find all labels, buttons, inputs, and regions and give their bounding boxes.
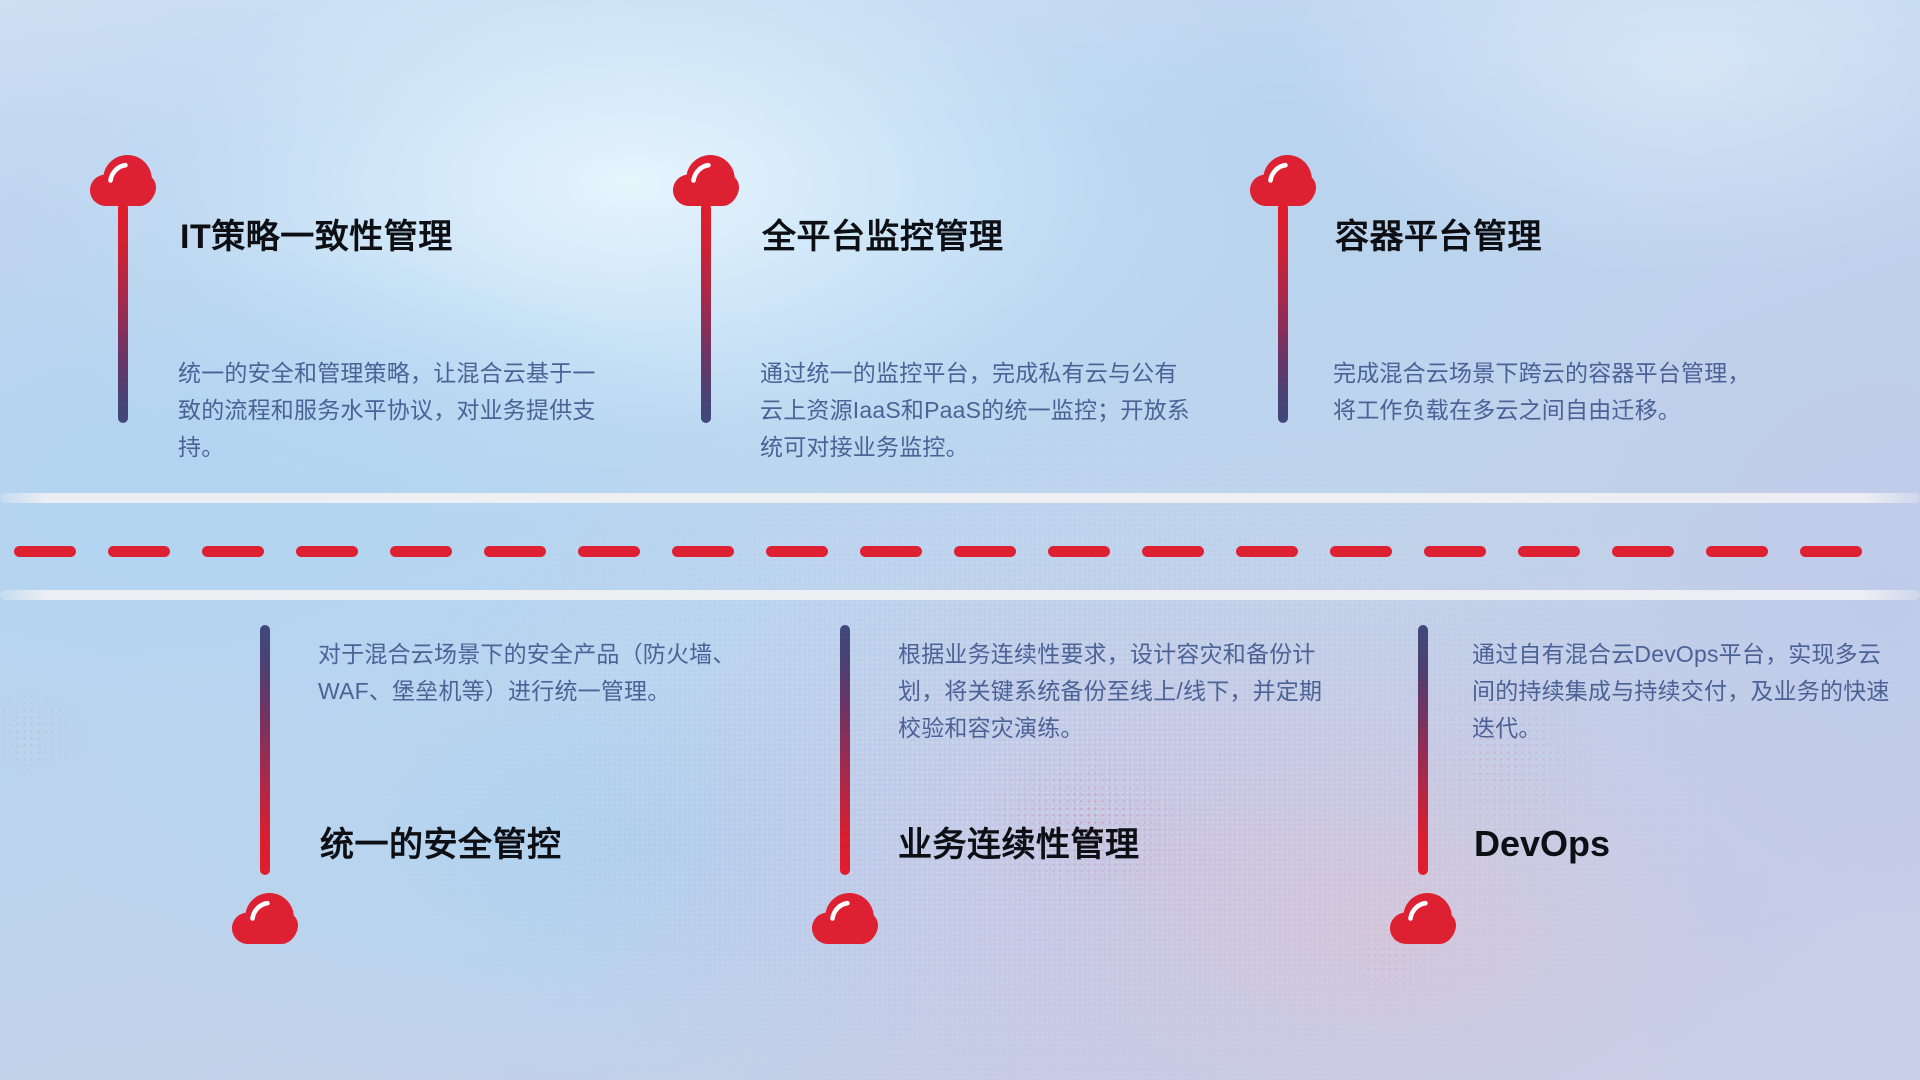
marker-title-container-platform: 容器平台管理: [1335, 220, 1542, 254]
cloud-icon: [673, 155, 739, 207]
marker-body-business-continuity: 根据业务连续性要求，设计容灾和备份计划，将关键系统备份至线上/线下，并定期校验和…: [898, 636, 1328, 747]
marker-stem: [701, 203, 711, 423]
road-dash-segment: [14, 546, 76, 557]
road-center-dashed-line: [0, 546, 1920, 557]
infographic-canvas: IT策略一致性管理 统一的安全和管理策略，让混合云基于一致的流程和服务水平协议，…: [0, 0, 1920, 1080]
road-dash-segment: [860, 546, 922, 557]
marker-stem: [260, 625, 270, 875]
marker-body-full-platform-monitoring: 通过统一的监控平台，完成私有云与公有云上资源IaaS和PaaS的统一监控；开放系…: [760, 355, 1200, 466]
cloud-icon: [1390, 893, 1456, 945]
marker-title-devops: DevOps: [1474, 826, 1610, 862]
marker-body-it-policy-consistency: 统一的安全和管理策略，让混合云基于一致的流程和服务水平协议，对业务提供支持。: [178, 355, 598, 466]
road-dash-segment: [108, 546, 170, 557]
road-dash-segment: [766, 546, 828, 557]
marker-title-full-platform-monitoring: 全平台监控管理: [762, 220, 1004, 254]
marker-body-devops: 通过自有混合云DevOps平台，实现多云间的持续集成与持续交付，及业务的快速迭代…: [1472, 636, 1892, 747]
road-dash-segment: [1706, 546, 1768, 557]
marker-body-container-platform: 完成混合云场景下跨云的容器平台管理，将工作负载在多云之间自由迁移。: [1333, 355, 1763, 429]
cloud-icon: [812, 893, 878, 945]
road-dash-segment: [296, 546, 358, 557]
road-edge-line-bottom: [0, 590, 1920, 600]
marker-title-it-policy-consistency: IT策略一致性管理: [180, 220, 453, 254]
marker-stem: [118, 203, 128, 423]
marker-body-unified-security-control: 对于混合云场景下的安全产品（防火墙、WAF、堡垒机等）进行统一管理。: [318, 636, 738, 710]
road-dash-segment: [1612, 546, 1674, 557]
road-dash-segment: [484, 546, 546, 557]
road-dash-segment: [1142, 546, 1204, 557]
cloud-icon: [1250, 155, 1316, 207]
marker-stem: [840, 625, 850, 875]
marker-title-unified-security-control: 统一的安全管控: [320, 828, 562, 862]
road-dash-segment: [1518, 546, 1580, 557]
road-dash-segment: [390, 546, 452, 557]
cloud-icon: [232, 893, 298, 945]
marker-stem: [1278, 203, 1288, 423]
marker-title-business-continuity: 业务连续性管理: [898, 828, 1140, 862]
road-dash-segment: [672, 546, 734, 557]
road-dash-segment: [954, 546, 1016, 557]
marker-stem: [1418, 625, 1428, 875]
road-dash-segment: [1330, 546, 1392, 557]
road-edge-line-top: [0, 493, 1920, 503]
road-dash-segment: [1424, 546, 1486, 557]
road-dash-segment: [1236, 546, 1298, 557]
road-dash-segment: [1048, 546, 1110, 557]
road-dash-segment: [202, 546, 264, 557]
cloud-icon: [90, 155, 156, 207]
road-dash-segment: [1800, 546, 1862, 557]
road-dash-segment: [578, 546, 640, 557]
